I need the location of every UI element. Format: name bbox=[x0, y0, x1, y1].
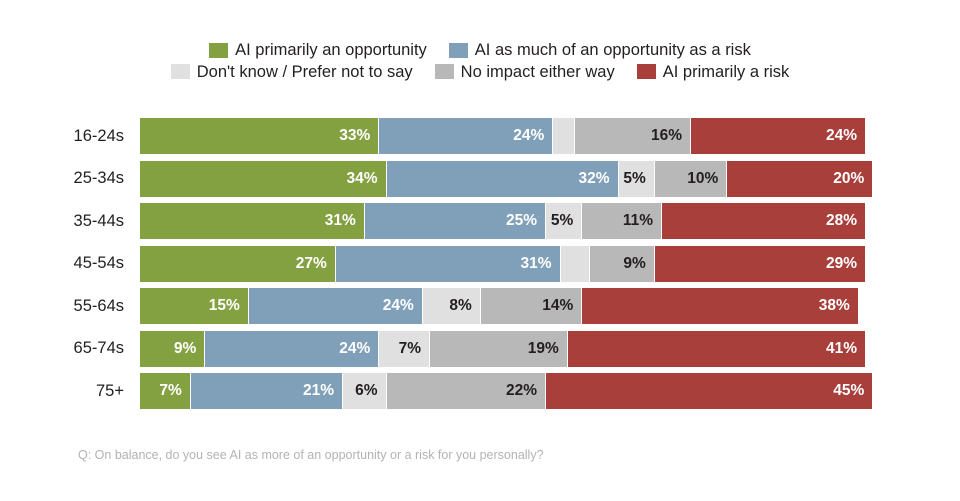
bar-segment-label: 16% bbox=[651, 127, 690, 145]
bar-segment[interactable] bbox=[553, 118, 575, 154]
category-label: 45-54s bbox=[0, 254, 140, 273]
stacked-bar-chart: AI primarily an opportunityAI as much of… bbox=[0, 0, 960, 501]
bar-segment[interactable]: 7% bbox=[379, 331, 430, 367]
bar-track: 34%32%5%10%20% bbox=[140, 161, 865, 197]
bar-segment-label: 15% bbox=[209, 297, 248, 315]
chart-legend: AI primarily an opportunityAI as much of… bbox=[0, 42, 960, 80]
bar-segment-label: 5% bbox=[551, 212, 581, 230]
bar-row: 16-24s33%24%16%24% bbox=[0, 118, 960, 154]
bar-segment[interactable]: 22% bbox=[387, 373, 547, 409]
category-label: 65-74s bbox=[0, 339, 140, 358]
bar-segment-label: 11% bbox=[623, 212, 661, 230]
legend-item[interactable]: No impact either way bbox=[435, 64, 615, 81]
legend-item-label: AI primarily an opportunity bbox=[235, 42, 427, 59]
bar-segment[interactable]: 33% bbox=[140, 118, 379, 154]
bar-segment[interactable]: 6% bbox=[343, 373, 387, 409]
legend-swatch-icon bbox=[435, 64, 454, 79]
chart-footnote: Q: On balance, do you see AI as more of … bbox=[78, 448, 544, 462]
bar-segment[interactable]: 16% bbox=[575, 118, 691, 154]
bar-track: 7%21%6%22%45% bbox=[140, 373, 865, 409]
bar-segment[interactable]: 20% bbox=[727, 161, 872, 197]
legend-item-label: AI as much of an opportunity as a risk bbox=[475, 42, 751, 59]
legend-swatch-icon bbox=[209, 43, 228, 58]
legend-item-label: Don't know / Prefer not to say bbox=[197, 64, 413, 81]
bar-segment-label: 19% bbox=[528, 340, 567, 358]
bar-segment-label: 29% bbox=[826, 255, 865, 273]
bar-segment[interactable]: 9% bbox=[590, 246, 655, 282]
bar-segment[interactable]: 32% bbox=[387, 161, 619, 197]
bar-segment-label: 34% bbox=[346, 170, 385, 188]
bar-row: 25-34s34%32%5%10%20% bbox=[0, 161, 960, 197]
category-label: 55-64s bbox=[0, 297, 140, 316]
bar-segment[interactable]: 5% bbox=[546, 203, 582, 239]
bar-segment[interactable]: 27% bbox=[140, 246, 336, 282]
bar-segment[interactable]: 41% bbox=[568, 331, 865, 367]
bar-segment[interactable]: 34% bbox=[140, 161, 387, 197]
bar-segment-label: 9% bbox=[623, 255, 653, 273]
category-label: 16-24s bbox=[0, 127, 140, 146]
bar-row: 75+7%21%6%22%45% bbox=[0, 373, 960, 409]
bar-row: 45-54s27%31%9%29% bbox=[0, 246, 960, 282]
bar-segment-label: 24% bbox=[826, 127, 865, 145]
bar-segment[interactable]: 14% bbox=[481, 288, 583, 324]
bar-segment[interactable]: 38% bbox=[582, 288, 858, 324]
legend-row-1: AI primarily an opportunityAI as much of… bbox=[0, 42, 960, 59]
bar-segment-label: 41% bbox=[826, 340, 865, 358]
bar-segment-label: 24% bbox=[383, 297, 422, 315]
bar-segment-label: 9% bbox=[174, 340, 204, 358]
bar-segment[interactable]: 24% bbox=[379, 118, 553, 154]
legend-item[interactable]: Don't know / Prefer not to say bbox=[171, 64, 413, 81]
bar-segment[interactable]: 24% bbox=[205, 331, 379, 367]
bar-segment-label: 20% bbox=[833, 170, 872, 188]
bar-segment-label: 25% bbox=[506, 212, 545, 230]
bar-segment[interactable]: 15% bbox=[140, 288, 249, 324]
bar-segment-label: 7% bbox=[159, 382, 189, 400]
bar-segment[interactable]: 21% bbox=[191, 373, 343, 409]
bar-segment-label: 28% bbox=[826, 212, 865, 230]
bar-segment[interactable]: 25% bbox=[365, 203, 546, 239]
bar-row: 55-64s15%24%8%14%38% bbox=[0, 288, 960, 324]
bar-segment-label: 32% bbox=[578, 170, 617, 188]
bar-row: 65-74s9%24%7%19%41% bbox=[0, 331, 960, 367]
bar-track: 9%24%7%19%41% bbox=[140, 331, 865, 367]
bar-segment-label: 38% bbox=[819, 297, 858, 315]
bar-segment-label: 45% bbox=[833, 382, 872, 400]
bar-segment[interactable]: 31% bbox=[140, 203, 365, 239]
bar-segment[interactable]: 31% bbox=[336, 246, 561, 282]
bar-segment[interactable]: 9% bbox=[140, 331, 205, 367]
bar-segment-label: 7% bbox=[399, 340, 429, 358]
bar-segment[interactable]: 7% bbox=[140, 373, 191, 409]
legend-row-2: Don't know / Prefer not to sayNo impact … bbox=[0, 64, 960, 81]
bar-segment-label: 6% bbox=[355, 382, 385, 400]
legend-item[interactable]: AI as much of an opportunity as a risk bbox=[449, 42, 751, 59]
legend-item-label: No impact either way bbox=[461, 64, 615, 81]
category-label: 25-34s bbox=[0, 169, 140, 188]
bar-segment-label: 22% bbox=[506, 382, 545, 400]
bar-segment[interactable]: 24% bbox=[249, 288, 423, 324]
bar-row: 35-44s31%25%5%11%28% bbox=[0, 203, 960, 239]
bar-segment[interactable]: 8% bbox=[423, 288, 481, 324]
bar-track: 15%24%8%14%38% bbox=[140, 288, 865, 324]
bar-segment-label: 27% bbox=[296, 255, 335, 273]
bar-track: 27%31%9%29% bbox=[140, 246, 865, 282]
legend-swatch-icon bbox=[171, 64, 190, 79]
bar-track: 31%25%5%11%28% bbox=[140, 203, 865, 239]
bar-track: 33%24%16%24% bbox=[140, 118, 865, 154]
legend-swatch-icon bbox=[637, 64, 656, 79]
legend-item[interactable]: AI primarily a risk bbox=[637, 64, 790, 81]
category-label: 35-44s bbox=[0, 212, 140, 231]
bar-segment-label: 33% bbox=[339, 127, 378, 145]
bar-segment-label: 8% bbox=[449, 297, 479, 315]
legend-item[interactable]: AI primarily an opportunity bbox=[209, 42, 427, 59]
legend-swatch-icon bbox=[449, 43, 468, 58]
legend-item-label: AI primarily a risk bbox=[663, 64, 790, 81]
bar-segment[interactable]: 11% bbox=[582, 203, 662, 239]
bar-segment-label: 21% bbox=[303, 382, 342, 400]
bar-segment-label: 24% bbox=[339, 340, 378, 358]
bar-segment[interactable]: 19% bbox=[430, 331, 568, 367]
category-label: 75+ bbox=[0, 382, 140, 401]
bar-segment[interactable]: 10% bbox=[655, 161, 728, 197]
bar-segment-label: 14% bbox=[542, 297, 581, 315]
bar-segment[interactable]: 5% bbox=[619, 161, 655, 197]
bar-segment-label: 31% bbox=[520, 255, 559, 273]
bar-segment[interactable]: 24% bbox=[691, 118, 865, 154]
bar-segment-label: 24% bbox=[513, 127, 552, 145]
chart-plot-area: 16-24s33%24%16%24%25-34s34%32%5%10%20%35… bbox=[0, 118, 960, 416]
bar-segment[interactable] bbox=[561, 246, 590, 282]
bar-segment[interactable]: 45% bbox=[546, 373, 872, 409]
bar-segment-label: 5% bbox=[623, 170, 653, 188]
bar-segment[interactable]: 29% bbox=[655, 246, 865, 282]
bar-segment[interactable]: 28% bbox=[662, 203, 865, 239]
bar-segment-label: 10% bbox=[687, 170, 726, 188]
bar-segment-label: 31% bbox=[325, 212, 364, 230]
